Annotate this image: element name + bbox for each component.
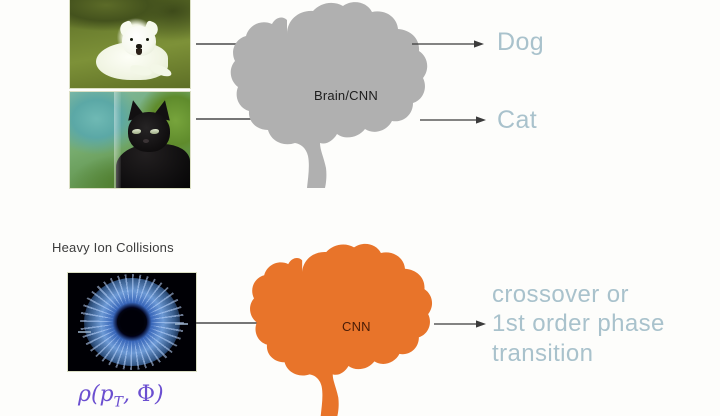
formula-rho-pt-phi: ρ(pT, Φ) [78,382,164,410]
output-label-phase-transition: crossover or 1st order phase transition [492,280,720,368]
brain-shape-gray: Brain/CNN [225,0,435,188]
formula-rho-symbol: ρ [78,382,91,407]
brain-label-gray: Brain/CNN [314,88,378,103]
collision-tick-right [175,323,188,325]
cat-photo-highlight [114,92,121,188]
collision-tick-left [78,331,91,333]
collision-core-shape [117,308,147,336]
connector-cnn-to-phase [434,318,492,330]
dog-mouth-shape [136,49,142,55]
cat-photo [70,92,190,188]
caption-heavy-ion-collisions: Heavy Ion Collisions [52,240,174,255]
formula-comma: , [123,382,137,407]
phase-line-3: transition [492,339,720,368]
brain-shape-orange: CNN [232,240,452,416]
dog-photo [70,0,190,88]
brain-label-orange: CNN [342,319,371,334]
dog-eye-shape [146,38,149,41]
diagram-canvas: Brain/CNN Dog Cat Heavy Ion Collisions ρ… [0,0,720,416]
collision-photo [68,273,196,371]
phase-line-2: 1st order phase [492,309,720,338]
formula-close-paren: ) [155,382,164,407]
formula-open-paren: ( [91,382,100,407]
formula-p-subscript: T [114,394,123,410]
connector-brain-to-cat [420,114,492,126]
output-label-dog: Dog [497,27,544,58]
output-label-cat: Cat [497,105,537,136]
cat-muzzle-shape [143,139,149,143]
phase-line-1: crossover or [492,280,720,309]
connector-brain-to-dog [412,38,490,50]
formula-p-symbol: p [100,382,114,407]
formula-phi-symbol: Φ [137,382,155,407]
dog-eye-shape [130,38,133,41]
